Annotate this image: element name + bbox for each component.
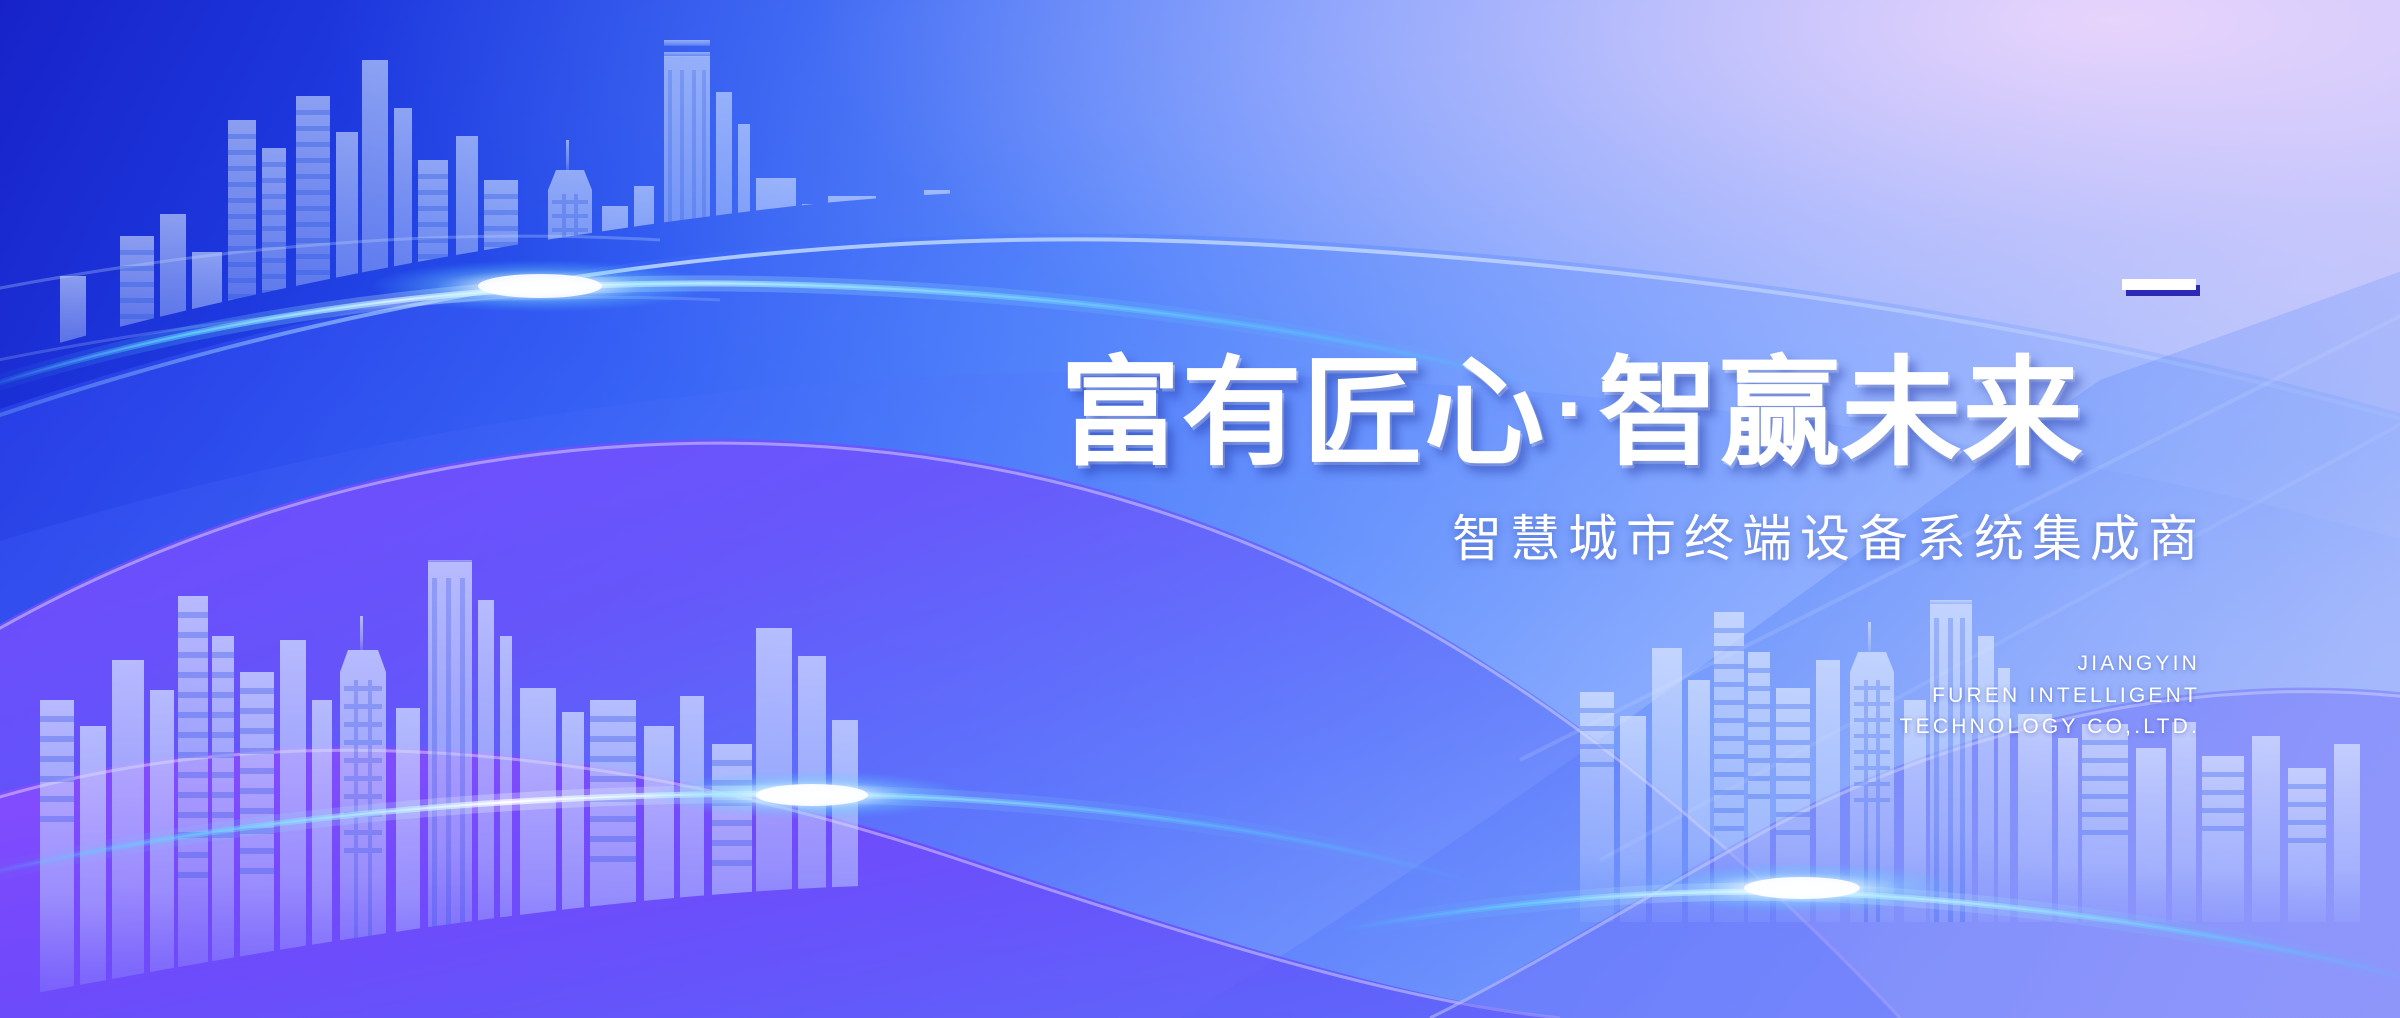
page-subtitle: 智慧城市终端设备系统集成商 bbox=[1060, 510, 2210, 569]
banner-canvas: 富有匠心·智赢未来 智慧城市终端设备系统集成商 JIANGYIN FUREN I… bbox=[0, 0, 2400, 1018]
company-line-1: JIANGYIN bbox=[1700, 648, 2200, 680]
title-secondary: 智赢未来 bbox=[1598, 348, 2084, 480]
page-title: 富有匠心·智赢未来 bbox=[1060, 352, 2233, 477]
company-name-block: JIANGYIN FUREN INTELLIGENT TECHNOLOGY CO… bbox=[1700, 648, 2200, 743]
glow-arc-lower-left bbox=[0, 771, 1480, 884]
title-separator: · bbox=[1546, 358, 1599, 460]
accent-rule-dash bbox=[2122, 279, 2196, 290]
company-line-3: TECHNOLOGY CO,.LTD. bbox=[1700, 711, 2200, 743]
glow-arcs bbox=[0, 0, 2400, 1018]
glow-arc-right bbox=[1340, 863, 2400, 986]
company-line-2: FUREN INTELLIGENT bbox=[1700, 680, 2200, 712]
title-main: 富有匠心 bbox=[1060, 348, 1546, 480]
